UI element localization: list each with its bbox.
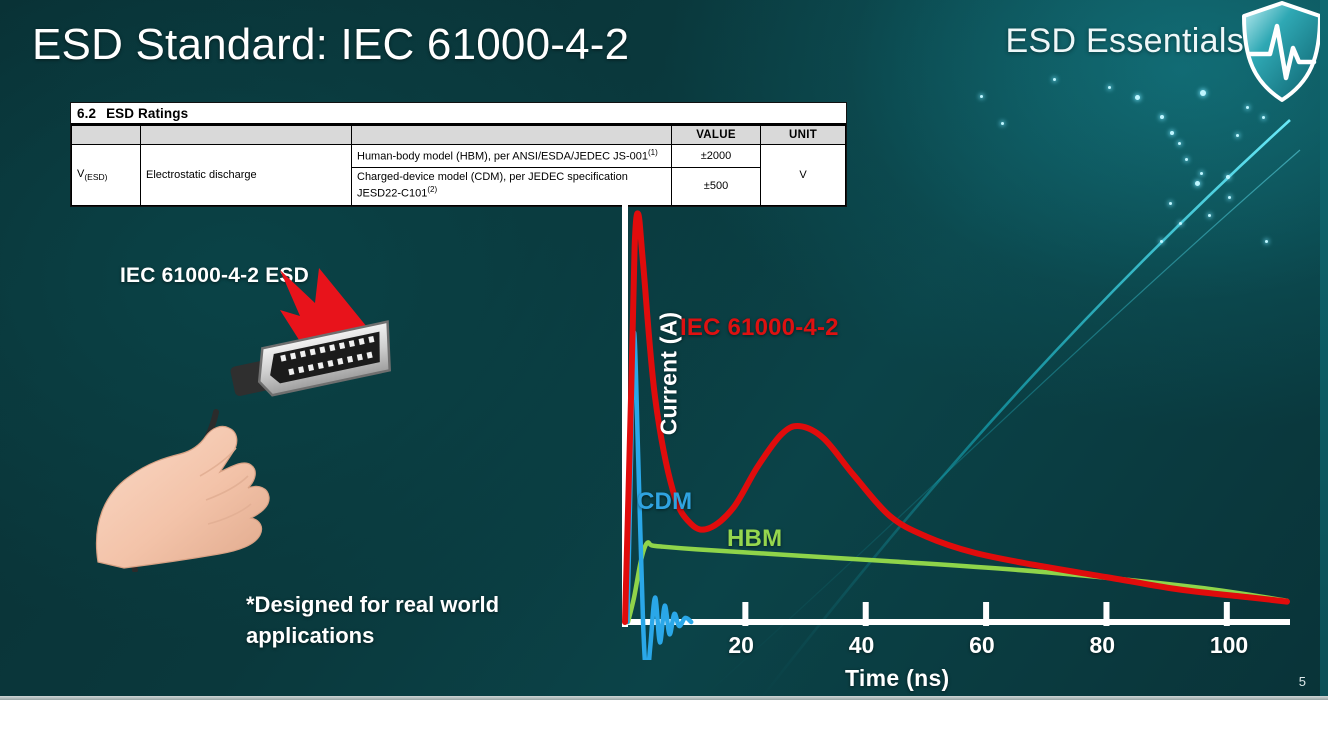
star-dot [1195, 181, 1200, 186]
chart-x-tick-label: 60 [969, 632, 995, 659]
slide-number: 5 [1299, 674, 1306, 689]
header-description [352, 126, 672, 145]
chart-plot-area [575, 200, 1305, 660]
description-text: Human-body model (HBM), per ANSI/ESDA/JE… [357, 151, 648, 163]
star-dot [1200, 172, 1203, 175]
esd-waveform-chart: Current (A) IEC 61000-4-2 CDM HBM 204060… [575, 200, 1305, 700]
brand-label: ESD Essentials [1005, 22, 1244, 61]
shield-pulse-icon [1236, 0, 1328, 108]
chart-series-curves [625, 213, 1287, 660]
series-label-hbm: HBM [727, 525, 782, 553]
header-parameter [141, 126, 352, 145]
star-dot [1135, 95, 1140, 100]
description-footnote: (2) [427, 185, 437, 194]
cell-description: Human-body model (HBM), per ANSI/ESDA/JE… [352, 145, 672, 168]
chart-x-axis-label: Time (ns) [845, 665, 950, 692]
cell-parameter: Electrostatic discharge [141, 145, 352, 206]
hand-with-hdmi-connector-illustration [88, 262, 438, 572]
series-label-iec: IEC 61000-4-2 [680, 314, 839, 342]
illustration-note: *Designed for real world applications [246, 589, 576, 651]
header-symbol [72, 126, 141, 145]
chart-curve-hbm [628, 542, 1287, 622]
chart-x-tick-label: 40 [849, 632, 875, 659]
description-footnote: (1) [648, 148, 658, 157]
chart-y-axis-label: Current (A) [656, 274, 683, 474]
table-section-number: 6.2 [77, 106, 96, 121]
star-dot [1160, 115, 1164, 119]
cell-value: ±2000 [672, 145, 761, 168]
table-section-title: ESD Ratings [106, 106, 188, 121]
symbol-subscript: (ESD) [84, 172, 107, 182]
star-dot [1178, 142, 1181, 145]
slide-right-edge-accent [1320, 0, 1328, 700]
page-title: ESD Standard: IEC 61000-4-2 [32, 20, 629, 70]
table-header-row: VALUE UNIT [72, 126, 846, 145]
series-label-cdm: CDM [637, 488, 692, 516]
header-value: VALUE [672, 126, 761, 145]
star-dot [1185, 158, 1188, 161]
esd-ratings-table: 6.2ESD Ratings VALUE UNIT V(ESD) Electr [70, 102, 847, 207]
header-unit: UNIT [761, 126, 846, 145]
slide-canvas: ESD Standard: IEC 61000-4-2 ESD Essentia… [0, 0, 1328, 700]
star-dot [980, 95, 983, 98]
cell-symbol: V(ESD) [72, 145, 141, 206]
star-dot [1228, 196, 1231, 199]
table-row: V(ESD) Electrostatic discharge Human-bod… [72, 145, 846, 168]
chart-curve-iec-61000-4-2 [625, 213, 1287, 622]
star-dot [1001, 122, 1004, 125]
star-dot [1108, 86, 1111, 89]
star-dot [1236, 134, 1239, 137]
chart-x-tick-label: 20 [728, 632, 754, 659]
star-dot [1226, 175, 1230, 179]
chart-x-tick-label: 80 [1089, 632, 1115, 659]
star-dot [1200, 90, 1206, 96]
star-dot [1053, 78, 1056, 81]
star-dot [1170, 131, 1174, 135]
description-text: Charged-device model (CDM), per JEDEC sp… [357, 171, 628, 199]
table-title-row: 6.2ESD Ratings [71, 103, 846, 125]
cell-unit: V [761, 145, 846, 206]
chart-x-tick-label: 100 [1210, 632, 1248, 659]
star-dot [1262, 116, 1265, 119]
footer-band: TEXAS INSTRUMENTS [0, 700, 1328, 746]
slide: ESD Standard: IEC 61000-4-2 ESD Essentia… [0, 0, 1328, 746]
